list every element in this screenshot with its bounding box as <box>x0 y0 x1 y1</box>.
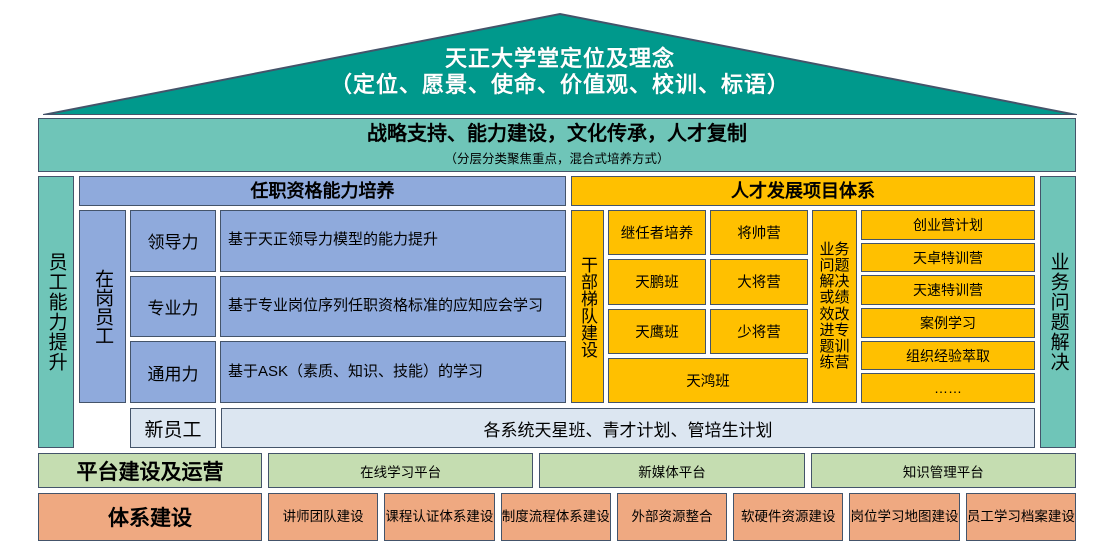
system-row-label: 体系建设 <box>38 493 262 541</box>
platform-item-online-learning[interactable]: 在线学习平台 <box>268 453 533 488</box>
program-case-study[interactable]: 案例学习 <box>861 308 1035 338</box>
platform-row: 平台建设及运营 在线学习平台 新媒体平台 知识管理平台 <box>38 453 1076 488</box>
program-general-camp[interactable]: 将帅营 <box>710 210 808 255</box>
main-body: 员工能力提升 任职资格能力培养 在岗员工 领导力 基于天正领导力模型的能力提升 <box>38 176 1076 448</box>
capability-desc-general[interactable]: 基于ASK（素质、知识、技能）的学习 <box>220 341 566 403</box>
talent-program-list: 创业营计划 天卓特训营 天速特训营 案例学习 组织经验萃取 …… <box>861 210 1035 403</box>
cadre-echelon-label: 干部梯队建设 <box>571 210 604 403</box>
program-tianzhuo-camp[interactable]: 天卓特训营 <box>861 243 1035 273</box>
program-successor-training[interactable]: 继任者培养 <box>608 210 706 255</box>
strategy-band: 战略支持、能力建设，文化传承，人才复制 （分层分类聚焦重点，混合式培养方式） <box>38 118 1076 172</box>
talent-development-panel-header: 人才发展项目体系 <box>571 176 1035 206</box>
talent-program-grid-row: 天鹰班 少将营 <box>608 309 808 354</box>
new-employee-programs[interactable]: 各系统天星班、青才计划、管培生计划 <box>221 408 1035 448</box>
capability-key-leadership[interactable]: 领导力 <box>130 210 216 272</box>
program-tianhong-class[interactable]: 天鸿班 <box>608 358 808 403</box>
system-item-trainer-team[interactable]: 讲师团队建设 <box>268 493 378 541</box>
system-item-learning-map[interactable]: 岗位学习地图建设 <box>849 493 959 541</box>
program-org-experience-extraction[interactable]: 组织经验萃取 <box>861 341 1035 371</box>
talent-development-panel-body: 干部梯队建设 继任者培养 将帅营 天鹏班 大将营 <box>571 210 1035 403</box>
program-tianpeng-class[interactable]: 天鹏班 <box>608 259 706 304</box>
right-vertical-bar-business-problem: 业务问题解决 <box>1040 176 1076 448</box>
platform-row-label: 平台建设及运营 <box>38 453 262 488</box>
talent-program-grid-row: 天鹏班 大将营 <box>608 259 808 304</box>
center-column: 任职资格能力培养 在岗员工 领导力 基于天正领导力模型的能力提升 专业力 <box>79 176 1035 448</box>
business-problem-training-camp-stack: 业务 问题 解决 或绩 效改 进专 题训 练营 <box>819 242 849 372</box>
panels-row: 任职资格能力培养 在岗员工 领导力 基于天正领导力模型的能力提升 专业力 <box>79 176 1035 403</box>
talent-program-grid: 继任者培养 将帅营 天鹏班 大将营 天鹰班 少将营 <box>608 210 808 403</box>
qualification-row: 领导力 基于天正领导力模型的能力提升 <box>130 210 566 272</box>
new-employee-row: 新员工 各系统天星班、青才计划、管培生计划 <box>79 408 1035 448</box>
strategy-band-subtitle: （分层分类聚焦重点，混合式培养方式） <box>444 148 669 167</box>
on-job-employee-label: 在岗员工 <box>79 210 126 403</box>
qualification-row: 通用力 基于ASK（素质、知识、技能）的学习 <box>130 341 566 403</box>
system-item-hardware-software[interactable]: 软硬件资源建设 <box>733 493 843 541</box>
system-item-process-system[interactable]: 制度流程体系建设 <box>501 493 611 541</box>
right-vertical-bar-label: 业务问题解决 <box>1047 252 1068 372</box>
qualification-panel: 任职资格能力培养 在岗员工 领导力 基于天正领导力模型的能力提升 专业力 <box>79 176 566 403</box>
program-tiansu-camp[interactable]: 天速特训营 <box>861 275 1035 305</box>
strategy-band-title: 战略支持、能力建设，文化传承，人才复制 <box>367 123 747 145</box>
left-vertical-bar-employee-capability: 员工能力提升 <box>38 176 74 448</box>
new-employee-label[interactable]: 新员工 <box>130 408 216 448</box>
program-tianying-class[interactable]: 天鹰班 <box>608 309 706 354</box>
platform-item-new-media[interactable]: 新媒体平台 <box>539 453 804 488</box>
program-ellipsis: …… <box>861 373 1035 403</box>
left-vertical-bar-label: 员工能力提升 <box>45 252 66 372</box>
talent-development-panel: 人才发展项目体系 干部梯队建设 继任者培养 将帅营 天鹏班 <box>571 176 1035 403</box>
program-startup-camp-plan[interactable]: 创业营计划 <box>861 210 1035 240</box>
program-major-general-camp[interactable]: 大将营 <box>710 259 808 304</box>
capability-desc-leadership[interactable]: 基于天正领导力模型的能力提升 <box>220 210 566 272</box>
talent-program-grid-row: 继任者培养 将帅营 <box>608 210 808 255</box>
capability-desc-professional[interactable]: 基于专业岗位序列任职资格标准的应知应会学习 <box>220 276 566 338</box>
capability-key-professional[interactable]: 专业力 <box>130 276 216 338</box>
talent-program-grid-row: 天鸿班 <box>608 358 808 403</box>
qualification-panel-header: 任职资格能力培养 <box>79 176 566 206</box>
capability-key-general[interactable]: 通用力 <box>130 341 216 403</box>
roof-polygon <box>43 12 1077 115</box>
system-item-employee-learning-archive[interactable]: 员工学习档案建设 <box>966 493 1076 541</box>
qualification-row: 专业力 基于专业岗位序列任职资格标准的应知应会学习 <box>130 276 566 338</box>
roof-shape: 天正大学堂定位及理念 （定位、愿景、使命、价值观、校训、标语） <box>43 12 1077 115</box>
system-row: 体系建设 讲师团队建设 课程认证体系建设 制度流程体系建设 外部资源整合 软硬件… <box>38 493 1076 541</box>
qualification-rows: 领导力 基于天正领导力模型的能力提升 专业力 基于专业岗位序列任职资格标准的应知… <box>130 210 566 403</box>
system-item-course-certification[interactable]: 课程认证体系建设 <box>384 493 494 541</box>
qualification-panel-body: 在岗员工 领导力 基于天正领导力模型的能力提升 专业力 基于专业岗位序列任职资格… <box>79 210 566 403</box>
program-brigadier-camp[interactable]: 少将营 <box>710 309 808 354</box>
diagram-canvas: 天正大学堂定位及理念 （定位、愿景、使命、价值观、校训、标语） 战略支持、能力建… <box>0 0 1114 551</box>
business-problem-training-camp-label: 业务 问题 解决 或绩 效改 进专 题训 练营 <box>812 210 857 403</box>
system-item-external-resources[interactable]: 外部资源整合 <box>617 493 727 541</box>
platform-item-knowledge-management[interactable]: 知识管理平台 <box>811 453 1076 488</box>
